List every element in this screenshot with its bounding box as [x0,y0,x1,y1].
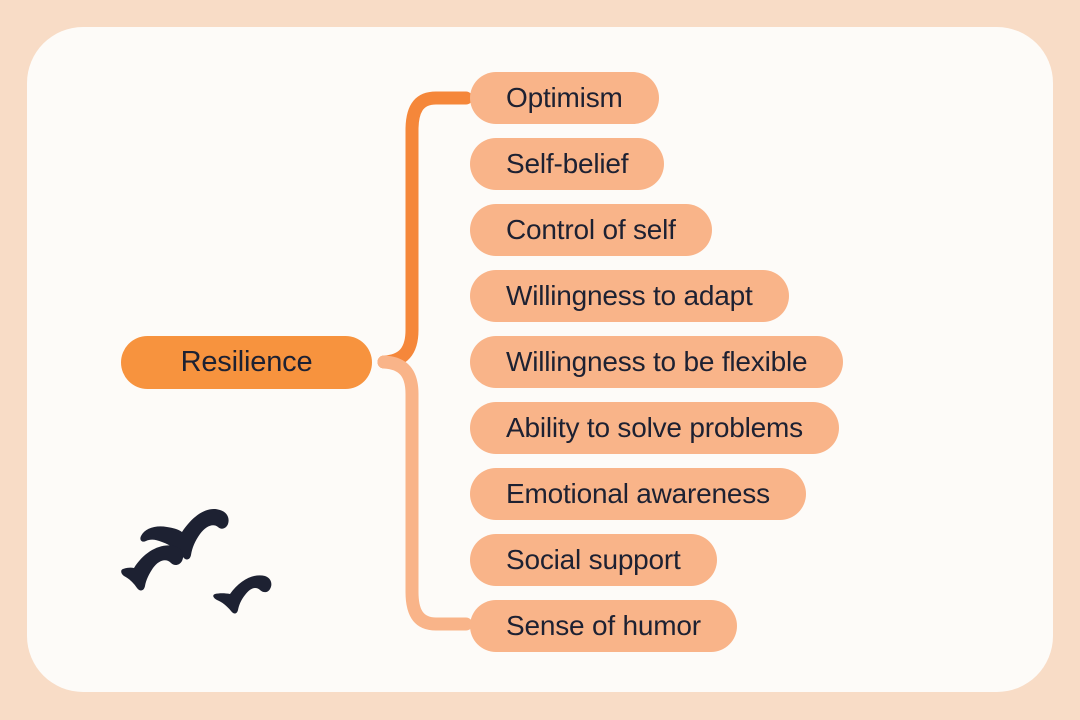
branch-node-1[interactable]: Optimism [470,72,659,124]
branch-node-8[interactable]: Social support [470,534,717,586]
root-node-label: Resilience [181,346,313,379]
branch-label-6: Ability to solve problems [506,414,803,442]
branch-label-8: Social support [506,546,681,574]
branch-label-1: Optimism [506,84,623,112]
branch-node-2[interactable]: Self-belief [470,138,664,190]
branch-list: Optimism Self-belief Control of self Wil… [470,72,1030,652]
bird-icon-small [213,575,271,613]
branch-node-4[interactable]: Willingness to adapt [470,270,789,322]
flying-birds-icon [112,498,312,618]
branch-node-7[interactable]: Emotional awareness [470,468,806,520]
branch-node-3[interactable]: Control of self [470,204,712,256]
branch-node-9[interactable]: Sense of humor [470,600,737,652]
root-node-resilience[interactable]: Resilience [121,336,372,389]
branch-node-6[interactable]: Ability to solve problems [470,402,839,454]
branch-label-7: Emotional awareness [506,480,770,508]
branch-label-5: Willingness to be flexible [506,348,807,376]
branch-label-3: Control of self [506,216,676,244]
diagram-canvas: Resilience Optimism Self-belief Control … [0,0,1080,720]
branch-node-5[interactable]: Willingness to be flexible [470,336,843,388]
branch-label-2: Self-belief [506,150,628,178]
branch-label-9: Sense of humor [506,612,701,640]
branch-label-4: Willingness to adapt [506,282,753,310]
bird-icon-medium [121,545,183,590]
